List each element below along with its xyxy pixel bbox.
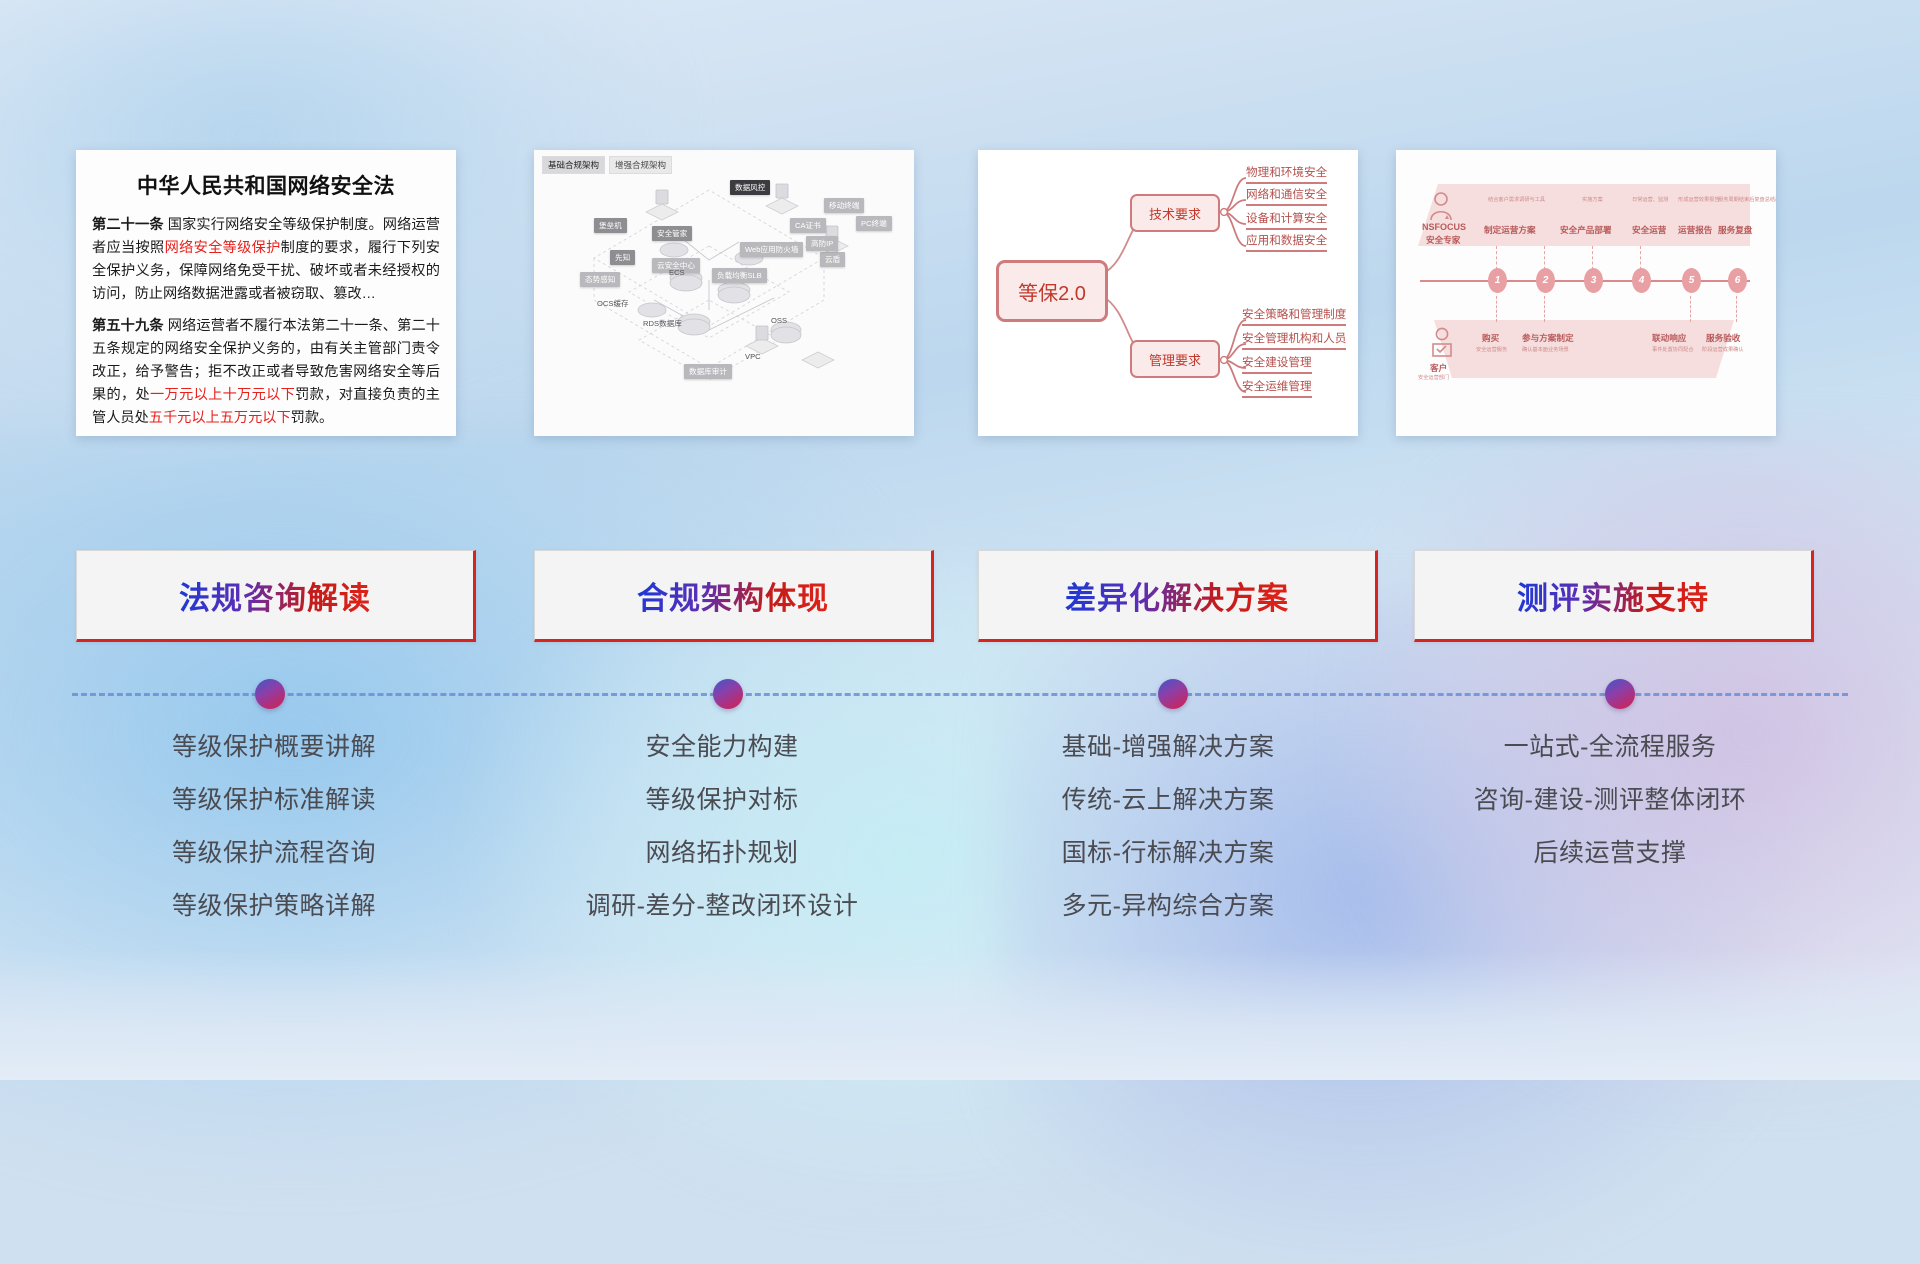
architecture-node-ecs: ECS — [664, 266, 690, 279]
law-card[interactable]: 中华人民共和国网络安全法 第二十一条 国家实行网络安全等级保护制度。网络运营者应… — [76, 150, 456, 436]
list-item: 基础-增强解决方案 — [958, 735, 1378, 760]
list-item: 安全能力构建 — [512, 735, 932, 760]
list-item: 等级保护策略详解 — [64, 894, 484, 919]
heading-row: 法规咨询解读 合规架构体现 差异化解决方案 测评实施支持 — [0, 550, 1920, 650]
law-title: 中华人民共和国网络安全法 — [92, 170, 440, 200]
mindmap-leaf-physical: 物理和环境安全 — [1246, 164, 1327, 184]
process-bottom-step-5: 服务验收 — [1706, 332, 1740, 344]
process-customer-role: 客户 — [1430, 362, 1447, 374]
architecture-node-vpc: VPC — [740, 350, 766, 363]
list-item: 网络拓扑规划 — [512, 841, 932, 866]
thumbnail-card-row: 中华人民共和国网络安全法 第二十一条 国家实行网络安全等级保护制度。网络运营者应… — [0, 150, 1920, 440]
architecture-node-bastion: 堡垒机 — [594, 218, 627, 233]
heading-box-assessment[interactable]: 测评实施支持 — [1414, 550, 1814, 642]
process-step-dot-6: 6 — [1728, 268, 1747, 293]
architecture-node-rds: RDS数据库 — [638, 316, 687, 331]
process-card-body: NSFOCUS 安全专家 结合客户需求调研与工具 实施方案 日常运营、监测 形成… — [1396, 150, 1776, 436]
mindmap-leaf-organization: 安全管理机构和人员 — [1242, 330, 1346, 350]
architecture-node-data-risk: 数据风控 — [730, 180, 770, 195]
process-top-sub-2: 实施方案 — [1582, 196, 1603, 203]
process-connector-5 — [1496, 296, 1497, 322]
list-item: 等级保护概要讲解 — [64, 735, 484, 760]
law-article-21-label: 第二十一条 — [92, 217, 164, 233]
detail-column-assessment: 一站式-全流程服务 咨询-建设-测评整体闭环 后续运营支撑 — [1400, 735, 1820, 894]
process-top-step-2: 安全产品部署 — [1560, 224, 1612, 236]
heading-box-architecture[interactable]: 合规架构体现 — [534, 550, 934, 642]
process-step-dot-1: 1 — [1488, 268, 1507, 293]
list-item: 后续运营支撑 — [1400, 841, 1820, 866]
architecture-node-xianzhi: 先知 — [610, 250, 635, 265]
architecture-node-slb: 负载均衡SLB — [712, 268, 767, 283]
law-article-59-text-end: 罚款。 — [291, 410, 334, 426]
law-card-body: 中华人民共和国网络安全法 第二十一条 国家实行网络安全等级保护制度。网络运营者应… — [76, 150, 456, 436]
architecture-node-situational-awareness: 态势感知 — [580, 272, 620, 287]
heading-label-assessment: 测评实施支持 — [1517, 573, 1709, 618]
timeline-dashed-line — [72, 693, 1848, 696]
process-bottom-step-1: 购买 — [1482, 332, 1499, 344]
mindmap-card[interactable]: 等保2.0 技术要求 管理要求 物理和环境安全 网络和通信安全 设备和计算安全 … — [978, 150, 1358, 436]
process-card[interactable]: NSFOCUS 安全专家 结合客户需求调研与工具 实施方案 日常运营、监测 形成… — [1396, 150, 1776, 436]
process-step-dot-3: 3 — [1584, 268, 1603, 293]
mindmap-branch-technical: 技术要求 — [1130, 194, 1220, 232]
list-item: 等级保护流程咨询 — [64, 841, 484, 866]
process-bottom-step-4: 联动响应 — [1652, 332, 1686, 344]
mindmap-leaf-network: 网络和通信安全 — [1246, 186, 1327, 206]
timeline — [0, 675, 1920, 715]
heading-label-architecture: 合规架构体现 — [637, 573, 829, 618]
list-item: 传统-云上解决方案 — [958, 788, 1378, 813]
list-item: 调研-差分-整改闭环设计 — [512, 894, 932, 919]
law-article-59-label: 第五十九条 — [92, 318, 164, 334]
law-paragraph-59: 第五十九条 网络运营者不履行本法第二十一条、第二十五条规定的网络安全保护义务的，… — [92, 315, 440, 430]
detail-column-row: 等级保护概要讲解 等级保护标准解读 等级保护流程咨询 等级保护策略详解 安全能力… — [0, 735, 1920, 975]
process-top-sub-5: 服务周期结束后复盘总结改进 — [1718, 196, 1776, 203]
process-bottom-sub-1: 安全运营服务 — [1476, 346, 1507, 353]
heading-label-regulation: 法规咨询解读 — [179, 573, 371, 618]
heading-box-solution[interactable]: 差异化解决方案 — [978, 550, 1378, 642]
process-bottom-sub-5: 阶段运营成果确认 — [1702, 346, 1744, 353]
process-connector-8 — [1736, 296, 1737, 322]
list-item: 一站式-全流程服务 — [1400, 735, 1820, 760]
slide-stage: 中华人民共和国网络安全法 第二十一条 国家实行网络安全等级保护制度。网络运营者应… — [0, 0, 1920, 1080]
architecture-node-security-butler: 安全管家 — [652, 226, 692, 241]
mindmap-leaf-construction: 安全建设管理 — [1242, 354, 1312, 374]
process-provider-role: 安全专家 — [1426, 234, 1460, 246]
list-item: 国标-行标解决方案 — [958, 841, 1378, 866]
list-item: 咨询-建设-测评整体闭环 — [1400, 788, 1820, 813]
law-paragraph-21: 第二十一条 国家实行网络安全等级保护制度。网络运营者应当按照网络安全等级保护制度… — [92, 214, 440, 306]
customer-person-icon — [1428, 326, 1456, 358]
architecture-node-ocs: OCS缓存 — [592, 296, 634, 311]
expert-person-icon — [1426, 190, 1456, 224]
mindmap-branch-management: 管理要求 — [1130, 340, 1220, 378]
timeline-dot-3[interactable] — [1158, 679, 1188, 709]
architecture-node-waf: Web应用防火墙 — [740, 242, 803, 257]
architecture-node-pc-terminal: PC终端 — [856, 216, 892, 231]
mindmap-leaf-policy: 安全策略和管理制度 — [1242, 306, 1346, 326]
heading-label-solution: 差异化解决方案 — [1065, 573, 1289, 618]
architecture-node-mobile-terminal: 移动终端 — [824, 198, 864, 213]
process-top-sub-3: 日常运营、监测 — [1632, 196, 1668, 203]
process-step-dot-5: 5 — [1682, 268, 1701, 293]
mindmap-card-body: 等保2.0 技术要求 管理要求 物理和环境安全 网络和通信安全 设备和计算安全 … — [978, 150, 1358, 436]
list-item: 等级保护标准解读 — [64, 788, 484, 813]
process-bottom-sub-4: 事件处置协同配合 — [1652, 346, 1694, 353]
process-step-dot-2: 2 — [1536, 268, 1555, 293]
architecture-card-body: 基础合规架构 增强合规架构 — [534, 150, 914, 436]
process-top-step-1: 制定运营方案 — [1484, 224, 1536, 236]
process-provider-name: NSFOCUS — [1422, 222, 1466, 232]
architecture-node-cloud-shield: 云盾 — [820, 252, 845, 267]
law-article-59-highlight-1: 一万元以上十万元以下 — [150, 387, 295, 403]
process-top-step-4: 运营报告 — [1678, 224, 1712, 236]
architecture-isometric-lines — [534, 150, 914, 436]
heading-box-regulation[interactable]: 法规咨询解读 — [76, 550, 476, 642]
law-article-59-highlight-2: 五千元以上五万元以下 — [149, 410, 291, 426]
process-bottom-step-2: 参与方案制定 — [1522, 332, 1574, 344]
architecture-node-db-audit: 数据库审计 — [684, 364, 732, 379]
architecture-node-anti-ddos-ip: 高防IP — [806, 236, 838, 251]
process-customer-role-sub: 安全运营部门 — [1418, 374, 1449, 381]
process-step-dot-4: 4 — [1632, 268, 1651, 293]
detail-column-architecture: 安全能力构建 等级保护对标 网络拓扑规划 调研-差分-整改闭环设计 — [512, 735, 932, 947]
mindmap-root-node: 等保2.0 — [996, 260, 1108, 322]
process-top-sub-4: 形成运营效果报告 — [1678, 196, 1720, 203]
architecture-card[interactable]: 基础合规架构 增强合规架构 — [534, 150, 914, 436]
law-article-21-highlight: 网络安全等级保护 — [165, 240, 281, 256]
detail-column-regulation: 等级保护概要讲解 等级保护标准解读 等级保护流程咨询 等级保护策略详解 — [64, 735, 484, 947]
architecture-node-oss: OSS — [766, 314, 792, 327]
timeline-dot-4[interactable] — [1605, 679, 1635, 709]
mindmap-leaf-device: 设备和计算安全 — [1246, 210, 1327, 230]
timeline-dot-2[interactable] — [713, 679, 743, 709]
process-connector-6 — [1544, 296, 1545, 322]
process-top-step-5: 服务复盘 — [1718, 224, 1752, 236]
process-band-provider — [1418, 184, 1750, 246]
process-top-sub-1: 结合客户需求调研与工具 — [1488, 196, 1545, 203]
list-item: 等级保护对标 — [512, 788, 932, 813]
process-bottom-sub-2: 确认基本面业务场景 — [1522, 346, 1569, 353]
detail-column-solution: 基础-增强解决方案 传统-云上解决方案 国标-行标解决方案 多元-异构综合方案 — [958, 735, 1378, 947]
mindmap-leaf-operations: 安全运维管理 — [1242, 378, 1312, 398]
mindmap-leaf-application: 应用和数据安全 — [1246, 232, 1327, 252]
process-connector-7 — [1690, 296, 1691, 322]
architecture-node-ca-cert: CA证书 — [790, 218, 826, 233]
process-top-step-3: 安全运营 — [1632, 224, 1666, 236]
timeline-dot-1[interactable] — [255, 679, 285, 709]
list-item: 多元-异构综合方案 — [958, 894, 1378, 919]
